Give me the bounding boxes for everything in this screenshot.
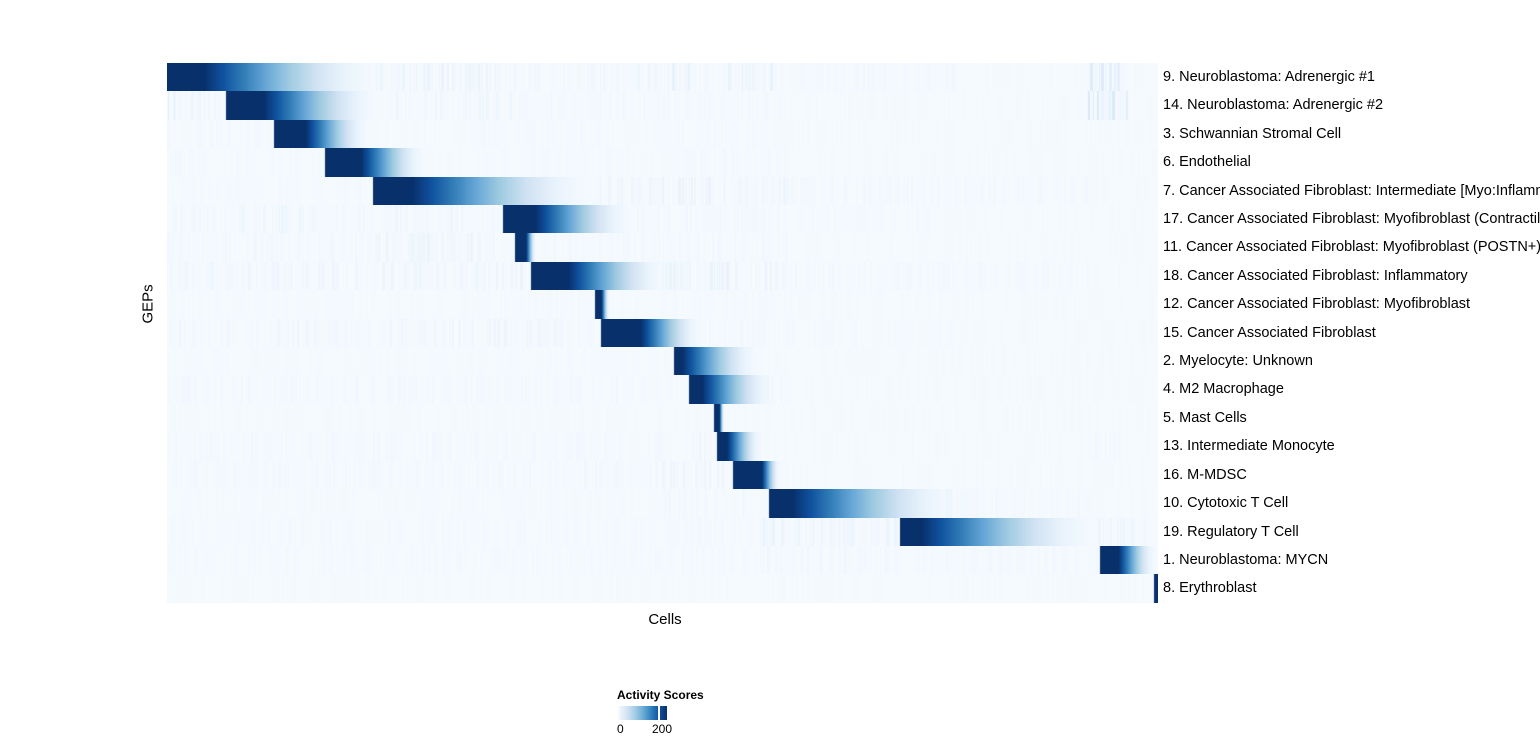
row-label: 8. Erythroblast bbox=[1163, 574, 1540, 602]
row-label-list: 9. Neuroblastoma: Adrenergic #114. Neuro… bbox=[1163, 63, 1540, 603]
heatmap-row-canvas bbox=[167, 148, 1158, 176]
heatmap-row-canvas bbox=[167, 404, 1158, 432]
row-label: 3. Schwannian Stromal Cell bbox=[1163, 120, 1540, 148]
heatmap-row bbox=[167, 432, 1158, 460]
heatmap-row bbox=[167, 120, 1158, 148]
row-label: 4. M2 Macrophage bbox=[1163, 375, 1540, 403]
heatmap-row bbox=[167, 63, 1158, 91]
row-label: 9. Neuroblastoma: Adrenergic #1 bbox=[1163, 63, 1540, 91]
row-label: 6. Endothelial bbox=[1163, 148, 1540, 176]
y-axis-title: GEPs bbox=[140, 294, 157, 324]
heatmap-grid bbox=[167, 63, 1158, 603]
legend-title: Activity Scores bbox=[617, 688, 837, 702]
legend-tick-mark bbox=[658, 706, 660, 720]
row-label: 1. Neuroblastoma: MYCN bbox=[1163, 546, 1540, 574]
heatmap-row-canvas bbox=[167, 347, 1158, 375]
row-label: 7. Cancer Associated Fibroblast: Interme… bbox=[1163, 177, 1540, 205]
heatmap-row bbox=[167, 518, 1158, 546]
legend-max-label: 200 bbox=[652, 722, 672, 736]
heatmap-row-canvas bbox=[167, 177, 1158, 205]
row-label: 11. Cancer Associated Fibroblast: Myofib… bbox=[1163, 233, 1540, 261]
heatmap-row-canvas bbox=[167, 574, 1158, 602]
heatmap-row-canvas bbox=[167, 205, 1158, 233]
row-label: 5. Mast Cells bbox=[1163, 404, 1540, 432]
heatmap-row bbox=[167, 347, 1158, 375]
heatmap-row bbox=[167, 461, 1158, 489]
heatmap-row-canvas bbox=[167, 546, 1158, 574]
row-label: 17. Cancer Associated Fibroblast: Myofib… bbox=[1163, 205, 1540, 233]
heatmap-row-canvas bbox=[167, 461, 1158, 489]
heatmap-row bbox=[167, 574, 1158, 602]
row-label: 15. Cancer Associated Fibroblast bbox=[1163, 319, 1540, 347]
heatmap-row-canvas bbox=[167, 262, 1158, 290]
row-label: 10. Cytotoxic T Cell bbox=[1163, 489, 1540, 517]
heatmap-row bbox=[167, 233, 1158, 261]
row-label: 19. Regulatory T Cell bbox=[1163, 518, 1540, 546]
heatmap-row bbox=[167, 262, 1158, 290]
heatmap-row-canvas bbox=[167, 91, 1158, 119]
heatmap-row bbox=[167, 375, 1158, 403]
heatmap-row-canvas bbox=[167, 489, 1158, 517]
heatmap-row bbox=[167, 404, 1158, 432]
heatmap-row-canvas bbox=[167, 233, 1158, 261]
heatmap-row-canvas bbox=[167, 319, 1158, 347]
x-axis-title: Cells bbox=[0, 611, 1330, 628]
row-label: 13. Intermediate Monocyte bbox=[1163, 432, 1540, 460]
legend: Activity Scores 0 200 bbox=[617, 688, 837, 738]
heatmap-row-canvas bbox=[167, 120, 1158, 148]
heatmap-row bbox=[167, 290, 1158, 318]
row-label: 2. Myelocyte: Unknown bbox=[1163, 347, 1540, 375]
heatmap-row-canvas bbox=[167, 375, 1158, 403]
row-label: 12. Cancer Associated Fibroblast: Myofib… bbox=[1163, 290, 1540, 318]
heatmap-row bbox=[167, 546, 1158, 574]
row-label: 18. Cancer Associated Fibroblast: Inflam… bbox=[1163, 262, 1540, 290]
heatmap-row bbox=[167, 489, 1158, 517]
heatmap-row bbox=[167, 205, 1158, 233]
heatmap-figure: GEPs Cells 9. Neuroblastoma: Adrenergic … bbox=[0, 0, 1540, 743]
row-label: 14. Neuroblastoma: Adrenergic #2 bbox=[1163, 91, 1540, 119]
heatmap-row bbox=[167, 148, 1158, 176]
row-label: 16. M-MDSC bbox=[1163, 461, 1540, 489]
legend-colorbar bbox=[617, 706, 667, 720]
heatmap-row-canvas bbox=[167, 518, 1158, 546]
heatmap-row bbox=[167, 177, 1158, 205]
heatmap-row bbox=[167, 319, 1158, 347]
heatmap-row-canvas bbox=[167, 290, 1158, 318]
heatmap-row bbox=[167, 91, 1158, 119]
legend-min-label: 0 bbox=[617, 722, 624, 736]
heatmap-row-canvas bbox=[167, 432, 1158, 460]
legend-tick-labels: 0 200 bbox=[617, 722, 697, 738]
heatmap-row-canvas bbox=[167, 63, 1158, 91]
